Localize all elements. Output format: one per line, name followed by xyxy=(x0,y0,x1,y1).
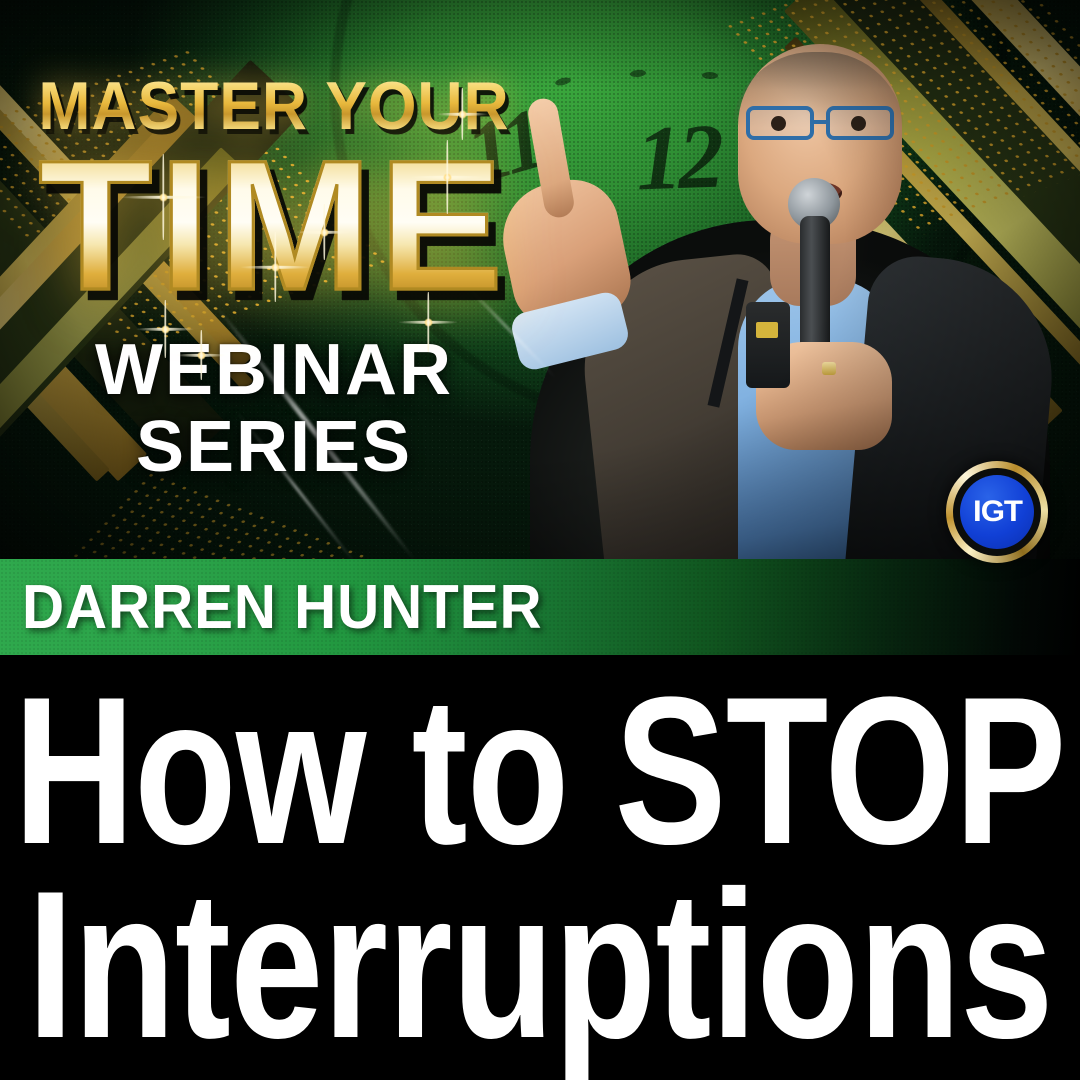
igt-logo-gold-ring: IGT xyxy=(946,461,1048,563)
igt-logo[interactable]: IGT xyxy=(946,461,1048,563)
presenter-name-banner: DARREN HUNTER xyxy=(0,559,1080,655)
episode-title-line-1: How to STOP xyxy=(14,671,1066,871)
series-logo-block: MASTER YOUR TIME WEBINAR SERIES xyxy=(0,72,548,485)
presenter-name: DARREN HUNTER xyxy=(22,572,543,643)
hero-section: 11 12 xyxy=(0,0,1080,560)
igt-logo-inner-dark-ring: IGT xyxy=(953,468,1041,556)
episode-title-line-2: Interruptions xyxy=(27,865,1053,1065)
webinar-poster: 11 12 xyxy=(0,0,1080,1080)
igt-logo-text: IGT xyxy=(973,497,1022,527)
episode-title-section: How to STOP Interruptions xyxy=(0,655,1080,1080)
time-text: TIME xyxy=(0,134,564,319)
igt-logo-blue-disc: IGT xyxy=(960,475,1034,549)
webinar-text: WEBINAR xyxy=(0,334,548,407)
series-text: SERIES xyxy=(0,411,548,484)
